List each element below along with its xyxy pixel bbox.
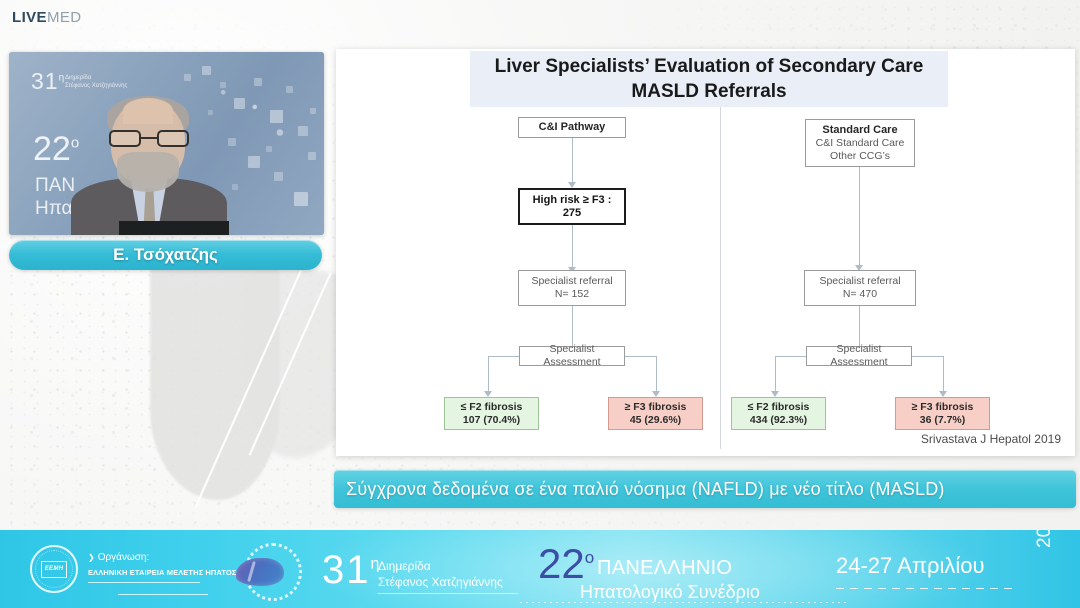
right-source-title: Standard Care — [822, 124, 897, 137]
right-referral-box: Specialist referral N= 470 — [804, 270, 916, 306]
footer-dotted-rule — [520, 602, 850, 603]
livemed-logo: LIVEMED — [12, 9, 82, 26]
right-outcome-high-label: ≥ F3 fibrosis — [912, 401, 974, 414]
left-high-risk-label: High risk ≥ F3 : — [533, 194, 612, 207]
left-drop-green — [488, 356, 489, 393]
speaker-podium — [119, 221, 229, 235]
organizer-label-text: Οργάνωση: — [98, 552, 150, 563]
organizer-label: ❯Οργάνωση: — [88, 552, 149, 563]
left-referral-value: N= 152 — [555, 288, 589, 301]
backdrop-edition-number: 31η — [31, 68, 65, 95]
left-high-risk-box: High risk ≥ F3 : 275 — [518, 188, 626, 225]
left-referral-box: Specialist referral N= 152 — [518, 270, 626, 306]
presentation-slide[interactable]: Liver Specialists’ Evaluation of Seconda… — [336, 49, 1075, 456]
liver-icon — [236, 558, 284, 586]
footer-dates: 24-27 Απριλίου — [836, 553, 985, 579]
footer-dashed-rule — [836, 588, 1016, 589]
right-source-box: Standard Care C&I Standard Care Other CC… — [805, 119, 915, 167]
left-outcome-low-label: ≤ F2 fibrosis — [461, 401, 523, 414]
speaker-person — [79, 100, 219, 235]
organizer-rule-1 — [88, 582, 200, 583]
glasses-icon — [109, 130, 189, 147]
footer-congress-line1: ΠΑΝΕΛΛΗΝΙΟ — [597, 557, 732, 580]
left-connector-1 — [572, 138, 573, 184]
footer-congress-line2: Ηπατολογικό Συνέδριο — [580, 582, 760, 603]
right-outcome-low-label: ≤ F2 fibrosis — [748, 401, 810, 414]
footer-edition-line2: Στέφανος Χατζηγιάννης — [378, 574, 503, 590]
backdrop-congress-sup: o — [71, 135, 79, 152]
right-source-line2: C&I Standard Care — [816, 137, 905, 150]
left-drop-red — [656, 356, 657, 393]
right-source-line3: Other CCG’s — [830, 150, 890, 163]
right-outcome-low-value: 434 (92.3%) — [750, 414, 807, 427]
left-assessment-label: Specialist Assessment — [524, 343, 620, 369]
right-connector-2 — [859, 306, 860, 348]
footer-edition-subtitle: Διημερίδα Στέφανος Χατζηγιάννης — [378, 558, 503, 590]
backdrop-edition-sub-line1: Διημερίδα — [65, 74, 127, 82]
left-source-label: C&I Pathway — [539, 121, 606, 134]
footer-year: 2024 — [1034, 530, 1056, 548]
speaker-name-text: Ε. Τσόχατζης — [113, 245, 218, 265]
talk-subtitle-bar: Σύγχρονα δεδομένα σε ένα παλιό νόσημα (N… — [334, 470, 1076, 508]
backdrop-edition-sub-line2: Στέφανος Χατζηγιάννης — [65, 82, 127, 90]
left-source-box: C&I Pathway — [518, 117, 626, 138]
slide-citation: Srivastava J Hepatol 2019 — [921, 432, 1061, 446]
congress-footer: ΕΕΜΗ ❯Οργάνωση: ΕΛΛΗΝΙΚΗ ΕΤΑΙΡΕΙΑ ΜΕΛΕΤΗ… — [0, 530, 1080, 608]
right-outcome-high-box: ≥ F3 fibrosis 36 (7.7%) — [895, 397, 990, 430]
backdrop-edition-subtitle: Διημερίδα Στέφανος Χατζηγιάννης — [65, 74, 127, 90]
left-outcome-low-box: ≤ F2 fibrosis 107 (70.4%) — [444, 397, 539, 430]
liver-logo — [228, 540, 336, 602]
organizer-rule-2 — [118, 594, 208, 595]
right-drop-green — [775, 356, 776, 393]
slide-title: Liver Specialists’ Evaluation of Seconda… — [470, 51, 948, 107]
left-outcome-high-label: ≥ F3 fibrosis — [625, 401, 687, 414]
right-referral-label: Specialist referral — [819, 275, 900, 288]
left-split-right-arm — [625, 356, 657, 357]
backdrop-congress-line1: ΠΑΝ — [35, 174, 75, 197]
logo-live-text: LIVE — [12, 9, 47, 26]
footer-congress-number: 22ο — [538, 540, 594, 588]
right-outcome-high-value: 36 (7.7%) — [920, 414, 966, 427]
left-connector-2 — [572, 225, 573, 269]
society-seal-logo: ΕΕΜΗ — [30, 545, 78, 593]
left-outcome-low-value: 107 (70.4%) — [463, 414, 520, 427]
left-high-risk-value: 275 — [563, 207, 581, 220]
backdrop-congress-lines: ΠΑΝ Ηπα — [35, 174, 75, 220]
speaker-name-badge: Ε. Τσόχατζης — [9, 240, 322, 270]
right-assessment-label: Specialist Assessment — [811, 343, 907, 369]
speaker-beard — [117, 152, 179, 192]
right-split-right-arm — [912, 356, 944, 357]
backdrop-congress-number: 22o — [33, 130, 79, 169]
logo-med-text: MED — [47, 9, 82, 26]
slide-vertical-divider — [720, 107, 721, 449]
footer-edition-line1: Διημερίδα — [378, 558, 503, 574]
left-referral-label: Specialist referral — [531, 275, 612, 288]
right-outcome-low-box: ≤ F2 fibrosis 434 (92.3%) — [731, 397, 826, 430]
chevron-right-icon: ❯ — [88, 553, 95, 562]
left-outcome-high-box: ≥ F3 fibrosis 45 (29.6%) — [608, 397, 703, 430]
right-referral-value: N= 470 — [843, 288, 877, 301]
right-connector-1 — [859, 167, 860, 267]
footer-edition-rule — [378, 593, 518, 594]
footer-edition-number: 31η — [322, 548, 381, 593]
left-assessment-box: Specialist Assessment — [519, 346, 625, 366]
speaker-video[interactable]: 31η Διημερίδα Στέφανος Χατζηγιάννης 22o … — [9, 52, 324, 235]
left-connector-3 — [572, 306, 573, 348]
left-split-left-arm — [488, 356, 519, 357]
footer-congress-sup: ο — [585, 548, 594, 567]
backdrop-congress-line2: Ηπα — [35, 197, 75, 220]
right-assessment-box: Specialist Assessment — [806, 346, 912, 366]
seal-text: ΕΕΜΗ — [41, 561, 67, 578]
right-drop-red — [943, 356, 944, 393]
talk-subtitle-text: Σύγχρονα δεδομένα σε ένα παλιό νόσημα (N… — [346, 479, 945, 500]
speaker-forehead — [123, 98, 173, 124]
organizer-name: ΕΛΛΗΝΙΚΗ ΕΤΑΙΡΕΙΑ ΜΕΛΕΤΗΣ ΗΠΑΤΟΣ — [88, 568, 236, 577]
left-outcome-high-value: 45 (29.6%) — [630, 414, 681, 427]
right-split-left-arm — [775, 356, 806, 357]
